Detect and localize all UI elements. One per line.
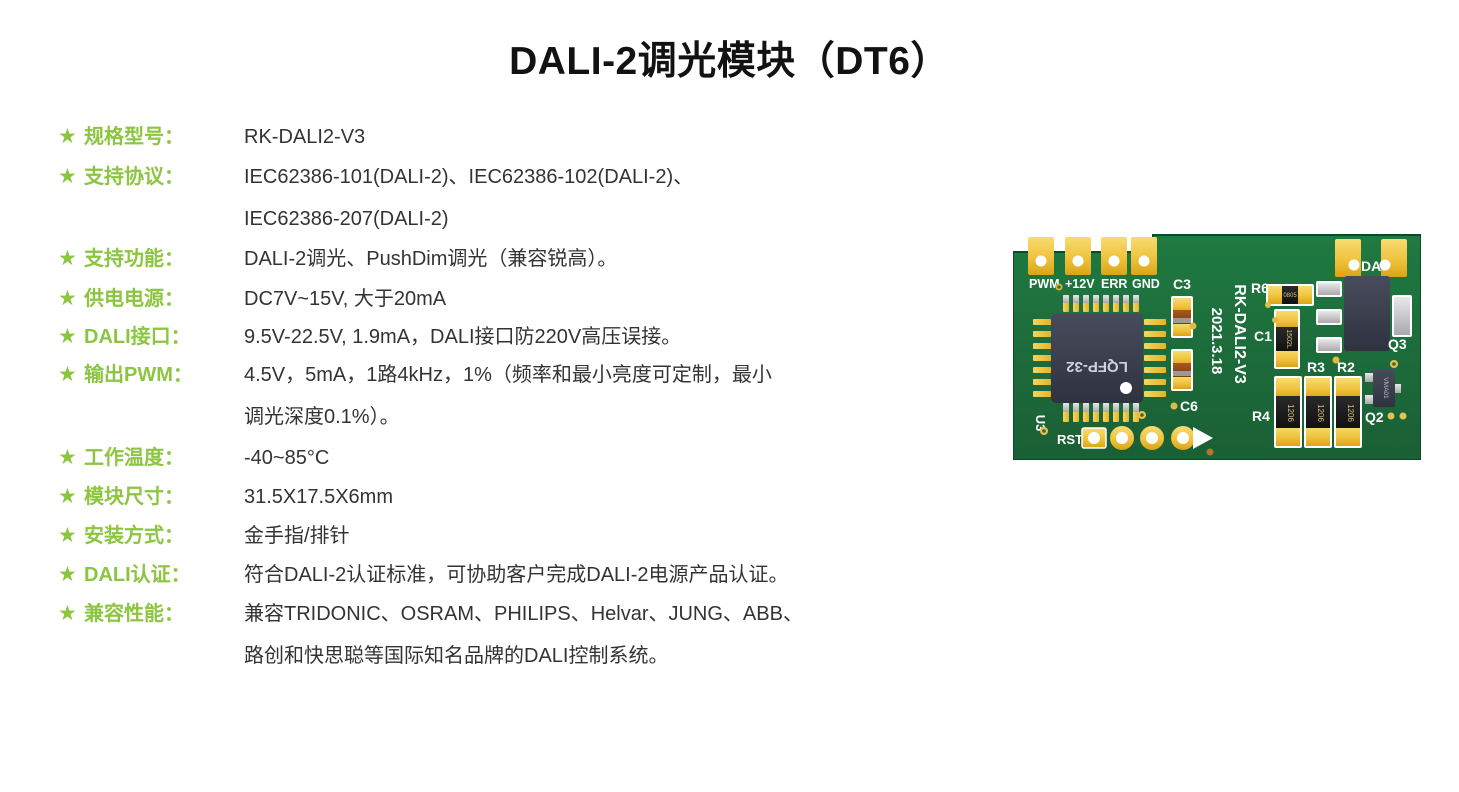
spec-row: ★ 安装方式： 金手指/排针 — [58, 521, 988, 551]
silk-ref-rst: RST — [1057, 432, 1083, 447]
product-spec-page: DALI-2调光模块（DT6） ★ 规格型号： RK-DALI2-V3 ★ 支持… — [0, 0, 1459, 792]
edge-pad-err — [1101, 237, 1127, 275]
component-c1: 1502L — [1272, 309, 1300, 369]
test-pad-3 — [1171, 426, 1195, 450]
spec-value: 4.5V，5mA，1路4kHz，1%（频率和最小亮度可定制，最小 调光深度0.1… — [244, 360, 988, 432]
edge-pad-da-right — [1380, 239, 1408, 277]
spec-row: ★ 兼容性能： 兼容TRIDONIC、OSRAM、PHILIPS、Helvar、… — [58, 599, 988, 671]
star-icon: ★ — [58, 443, 84, 473]
spec-value-line: 路创和快思聪等国际知名品牌的DALI控制系统。 — [244, 641, 988, 671]
spec-row: ★ 输出PWM： 4.5V，5mA，1路4kHz，1%（频率和最小亮度可定制，最… — [58, 360, 988, 432]
spec-value: 符合DALI-2认证标准，可协助客户完成DALI-2电源产品认证。 — [244, 560, 988, 590]
spec-list: ★ 规格型号： RK-DALI2-V3 ★ 支持协议： IEC62386-101… — [58, 122, 988, 680]
component-r4: 1206 — [1274, 376, 1302, 448]
star-icon: ★ — [58, 284, 84, 314]
edge-pad-pwm — [1028, 237, 1054, 275]
star-icon: ★ — [58, 482, 84, 512]
spec-value-line: 符合DALI-2认证标准，可协助客户完成DALI-2电源产品认证。 — [244, 560, 988, 590]
spec-row: ★ 模块尺寸： 31.5X17.5X6mm — [58, 482, 988, 512]
silk-ref-c3: C3 — [1173, 276, 1191, 292]
star-icon: ★ — [58, 560, 84, 590]
component-r3: 1206 — [1304, 376, 1332, 448]
silk-label-da: DA — [1361, 258, 1381, 274]
spec-label: 输出PWM： — [84, 360, 244, 390]
component-pad-stack — [1316, 281, 1342, 364]
spec-label: 支持功能： — [84, 244, 244, 274]
spec-value-line: RK-DALI2-V3 — [244, 122, 988, 152]
component-r6: 0805 — [1265, 284, 1314, 308]
silk-ref-c6: C6 — [1180, 398, 1198, 414]
star-icon: ★ — [58, 322, 84, 352]
star-icon: ★ — [58, 122, 84, 152]
spec-value: 兼容TRIDONIC、OSRAM、PHILIPS、Helvar、JUNG、ABB… — [244, 599, 988, 671]
silk-label-12v: +12V — [1065, 277, 1095, 291]
component-marking-r6: 0805 — [1283, 293, 1297, 299]
spec-value: 31.5X17.5X6mm — [244, 482, 988, 512]
spec-row: ★ 规格型号： RK-DALI2-V3 — [58, 122, 988, 152]
spec-value: DC7V~15V, 大于20mA — [244, 284, 988, 314]
silk-board-date: 2021.3.18 — [1208, 308, 1225, 375]
edge-pad-da-left — [1335, 239, 1361, 277]
star-icon: ★ — [58, 244, 84, 274]
silk-label-gnd: GND — [1132, 277, 1160, 291]
component-marking-c1: 1502L — [1285, 329, 1292, 349]
spec-row: ★ 支持协议： IEC62386-101(DALI-2)、IEC62386-10… — [58, 162, 988, 234]
star-icon: ★ — [58, 360, 84, 390]
edge-pad-gnd — [1131, 237, 1157, 275]
spec-value: DALI-2调光、PushDim调光（兼容锐高）。 — [244, 244, 988, 274]
star-icon: ★ — [58, 162, 84, 192]
spec-value-line: 金手指/排针 — [244, 521, 988, 551]
spec-label: 支持协议： — [84, 162, 244, 192]
silk-ref-r2: R2 — [1337, 359, 1355, 375]
star-icon: ★ — [58, 521, 84, 551]
spec-value-line: 兼容TRIDONIC、OSRAM、PHILIPS、Helvar、JUNG、ABB… — [244, 599, 988, 629]
spec-value-line: DALI-2调光、PushDim调光（兼容锐高）。 — [244, 244, 988, 274]
spec-label: 模块尺寸： — [84, 482, 244, 512]
spec-value: IEC62386-101(DALI-2)、IEC62386-102(DALI-2… — [244, 162, 988, 234]
spec-value-line: 9.5V-22.5V, 1.9mA，DALI接口防220V高压误接。 — [244, 322, 988, 352]
star-icon: ★ — [58, 599, 84, 629]
component-marking-q2: VMA01 — [1382, 377, 1389, 399]
spec-value-line: 31.5X17.5X6mm — [244, 482, 988, 512]
spec-value-line: IEC62386-207(DALI-2) — [244, 204, 988, 234]
spec-label: 规格型号： — [84, 122, 244, 152]
silk-ref-c1: C1 — [1254, 328, 1272, 344]
test-pad-square — [1082, 428, 1106, 448]
silk-ref-r3: R3 — [1307, 359, 1325, 375]
silk-ref-q3: Q3 — [1388, 336, 1407, 352]
spec-label: DALI认证： — [84, 560, 244, 590]
spec-value-line: DC7V~15V, 大于20mA — [244, 284, 988, 314]
test-pad-2 — [1140, 426, 1164, 450]
component-c6 — [1171, 349, 1193, 391]
silk-ref-r4: R4 — [1252, 408, 1270, 424]
silk-ref-q2: Q2 — [1365, 409, 1384, 425]
spec-value: 金手指/排针 — [244, 521, 988, 551]
test-pad-1 — [1110, 426, 1134, 450]
silk-ref-r6: R6 — [1251, 280, 1269, 296]
component-marking-r4: 1206 — [1286, 404, 1295, 422]
component-r2: 1206 — [1334, 376, 1362, 448]
ic-marking-label: LQFP-32 — [1066, 358, 1128, 375]
spec-label: 安装方式： — [84, 521, 244, 551]
spec-value: RK-DALI2-V3 — [244, 122, 988, 152]
spec-label: 兼容性能： — [84, 599, 244, 629]
component-c3 — [1171, 296, 1197, 338]
silk-board-name: RK-DALI2-V3 — [1231, 284, 1248, 384]
spec-row: ★ 支持功能： DALI-2调光、PushDim调光（兼容锐高）。 — [58, 244, 988, 274]
spec-label: 供电电源： — [84, 284, 244, 314]
component-marking-r3: 1206 — [1316, 404, 1325, 422]
edge-pad-12v — [1065, 237, 1091, 275]
spec-value-line: IEC62386-101(DALI-2)、IEC62386-102(DALI-2… — [244, 162, 988, 192]
spec-label: DALI接口： — [84, 322, 244, 352]
silk-label-pwm: PWM — [1029, 277, 1060, 291]
spec-row: ★ 供电电源： DC7V~15V, 大于20mA — [58, 284, 988, 314]
pcb-module-image: PWM +12V ERR GND DA — [1013, 231, 1421, 460]
spec-label: 工作温度： — [84, 443, 244, 473]
component-marking-r2: 1206 — [1346, 404, 1355, 422]
spec-value: -40~85°C — [244, 443, 988, 473]
spec-row: ★ DALI接口： 9.5V-22.5V, 1.9mA，DALI接口防220V高… — [58, 322, 988, 352]
spec-value-line: -40~85°C — [244, 443, 988, 473]
spec-value: 9.5V-22.5V, 1.9mA，DALI接口防220V高压误接。 — [244, 322, 988, 352]
spec-row: ★ DALI认证： 符合DALI-2认证标准，可协助客户完成DALI-2电源产品… — [58, 560, 988, 590]
spec-row: ★ 工作温度： -40~85°C — [58, 443, 988, 473]
spec-value-line: 调光深度0.1%）。 — [244, 402, 988, 432]
silk-label-err: ERR — [1101, 277, 1127, 291]
page-title: DALI-2调光模块（DT6） — [0, 30, 1459, 86]
spec-value-line: 4.5V，5mA，1路4kHz，1%（频率和最小亮度可定制，最小 — [244, 360, 988, 390]
